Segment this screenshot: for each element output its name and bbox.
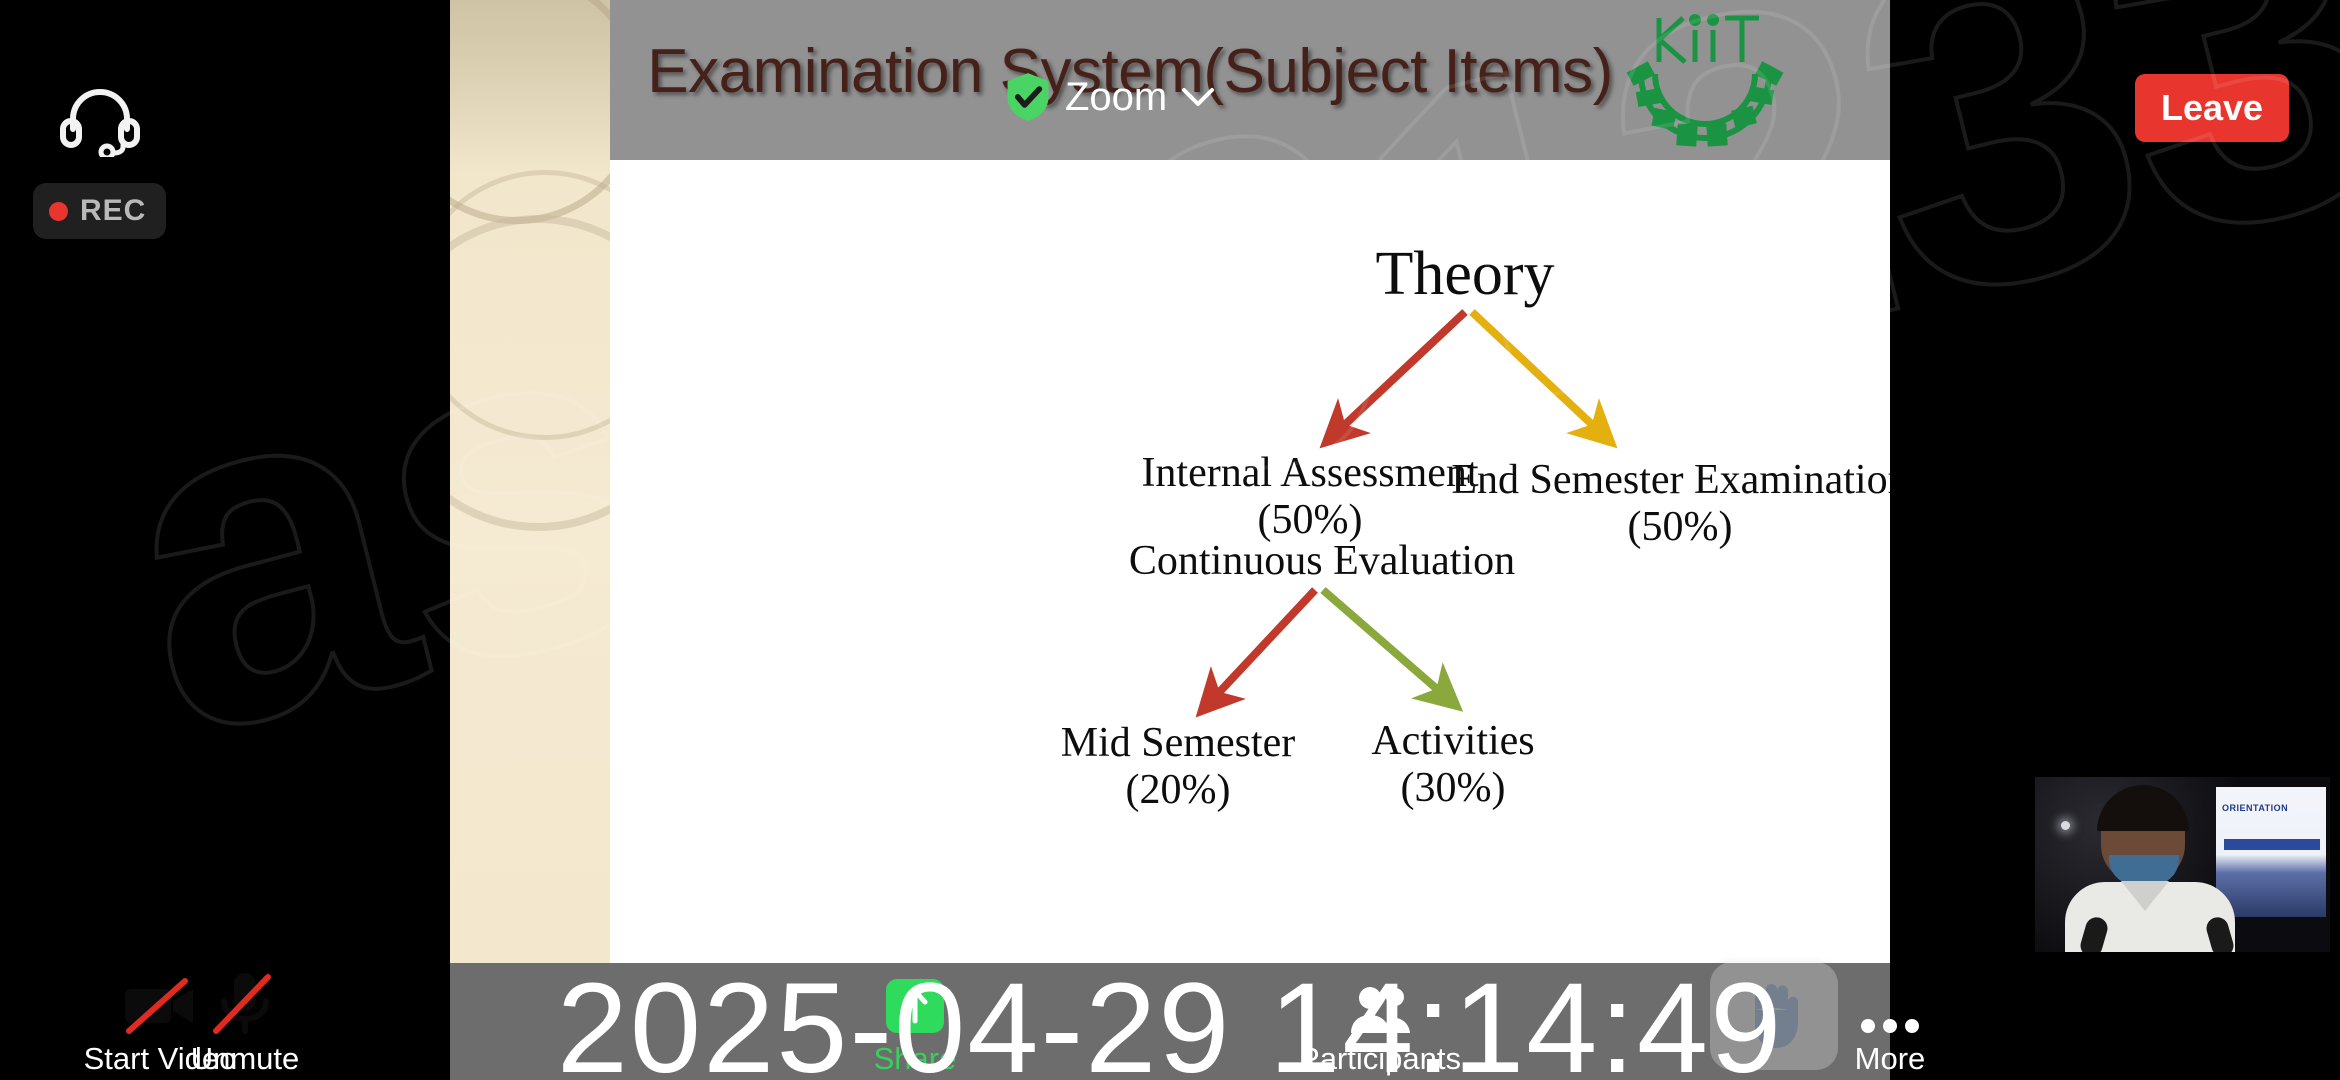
zoom-meeting-window: REC Unmute <box>0 0 2340 1080</box>
chevron-down-icon <box>1181 86 1215 108</box>
node-pct-mid-semester: (20%) <box>1061 767 1295 814</box>
zoom-app-name: Zoom <box>1065 75 1167 120</box>
headset-icon[interactable] <box>52 78 148 162</box>
node-pct-activities: (30%) <box>1371 765 1534 812</box>
diagram-node-theory: Theory <box>1375 240 1554 309</box>
share-screen-icon <box>884 971 946 1037</box>
more-dots-icon <box>1859 971 1921 1037</box>
start-video-button[interactable]: Start Video <box>50 971 270 1077</box>
zoom-app-indicator[interactable]: Zoom <box>1005 72 1215 122</box>
exam-system-diagram: Theory Internal Assessment (50%) Continu… <box>610 160 1890 963</box>
record-dot-icon <box>49 202 68 221</box>
diagram-node-internal-assessment: Internal Assessment (50%) <box>1141 450 1478 544</box>
more-options-button[interactable]: More <box>1780 971 2000 1077</box>
share-screen-button[interactable]: Share <box>805 971 1025 1077</box>
diagram-node-end-semester: End Semester Examination (50%) <box>1451 457 1890 551</box>
verified-shield-icon <box>1005 72 1051 122</box>
thumbnail-slide-bar <box>2224 839 2320 850</box>
participant-video-thumbnail[interactable]: ORIENTATION <box>2035 777 2330 952</box>
node-label-mid-semester: Mid Semester <box>1061 720 1295 767</box>
meeting-top-bar: Examination System(Subject Items) <box>610 0 1890 160</box>
share-screen-label: Share <box>874 1041 957 1077</box>
shared-screen-region: Theory Internal Assessment (50%) Continu… <box>450 0 1890 1080</box>
meeting-bottom-toolbar: Start Video Share Participants <box>450 963 1890 1080</box>
left-panel: REC Unmute <box>0 0 450 1080</box>
node-pct-internal-assessment: (50%) <box>1141 497 1478 544</box>
leave-button[interactable]: Leave <box>2135 74 2289 142</box>
participants-label: Participants <box>1299 1041 1461 1077</box>
recording-label: REC <box>80 194 146 228</box>
more-label: More <box>1855 1041 1926 1077</box>
node-label-activities: Activities <box>1371 718 1534 765</box>
diagram-node-mid-semester: Mid Semester (20%) <box>1061 720 1295 814</box>
recording-badge[interactable]: REC <box>33 183 166 239</box>
node-label-internal-assessment: Internal Assessment <box>1141 450 1478 497</box>
participants-button[interactable]: Participants <box>1270 971 1490 1077</box>
start-video-label: Start Video <box>84 1041 237 1077</box>
diagram-node-activities: Activities (30%) <box>1371 718 1534 812</box>
node-label-end-semester: End Semester Examination <box>1451 457 1890 504</box>
video-off-icon <box>119 971 201 1037</box>
kiit-logo-icon <box>1625 4 1785 159</box>
node-pct-end-semester: (50%) <box>1451 504 1890 551</box>
slide-decorative-border <box>450 0 610 963</box>
participants-icon <box>1345 971 1415 1037</box>
thumbnail-presentation-screen: ORIENTATION <box>2216 787 2326 917</box>
thumbnail-light <box>2061 821 2070 830</box>
thumbnail-slide-title: ORIENTATION <box>2222 803 2288 813</box>
node-label-theory: Theory <box>1375 240 1554 308</box>
